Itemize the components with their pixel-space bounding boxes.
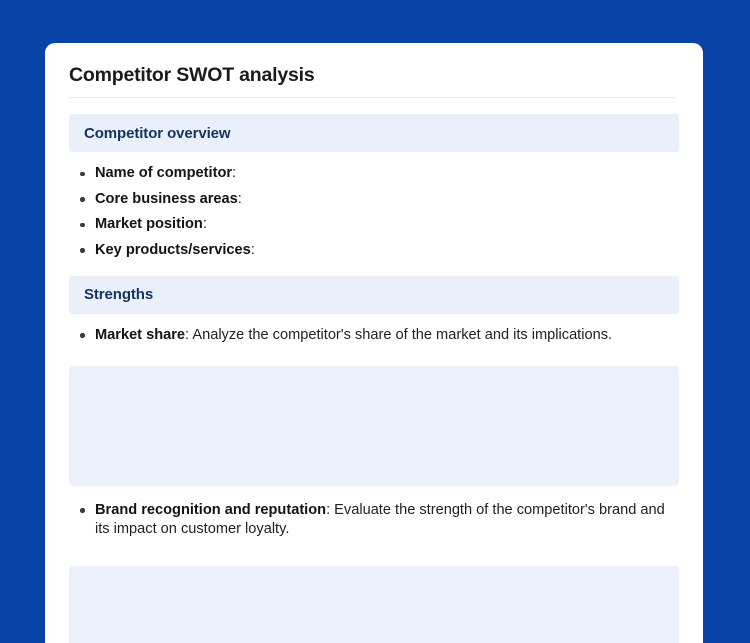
list-item[interactable]: Market position: bbox=[69, 215, 679, 234]
list-item-lead: Key products/services bbox=[95, 242, 251, 258]
document-content: Competitor SWOT analysis Competitor over… bbox=[45, 43, 703, 643]
list-item-lead: Brand recognition and reputation bbox=[95, 502, 326, 518]
list-item[interactable]: Market share: Analyze the competitor's s… bbox=[69, 326, 679, 345]
section-header-strengths[interactable]: Strengths bbox=[69, 276, 679, 314]
list-item[interactable]: Name of competitor: bbox=[69, 164, 679, 183]
list-item[interactable]: Brand recognition and reputation: Evalua… bbox=[69, 501, 679, 539]
bullet-list-strengths-first: Market share: Analyze the competitor's s… bbox=[69, 326, 679, 345]
document-card: Competitor SWOT analysis Competitor over… bbox=[45, 43, 703, 643]
title-divider bbox=[69, 97, 675, 98]
section-header-competitor-overview[interactable]: Competitor overview bbox=[69, 114, 679, 152]
bullet-list-competitor-overview: Name of competitor: Core business areas:… bbox=[69, 164, 679, 260]
list-item-lead: Name of competitor bbox=[95, 165, 232, 181]
list-item-body: : bbox=[251, 242, 255, 258]
list-item-lead: Market position bbox=[95, 216, 203, 232]
list-item-body: : bbox=[238, 191, 242, 207]
section-heading-label: Strengths bbox=[84, 286, 153, 303]
list-item-body: : bbox=[203, 216, 207, 232]
list-item-body: : bbox=[232, 165, 236, 181]
list-item-lead: Core business areas bbox=[95, 191, 238, 207]
page-title: Competitor SWOT analysis bbox=[69, 43, 679, 88]
content-placeholder-block[interactable] bbox=[69, 566, 679, 643]
content-placeholder-block[interactable] bbox=[69, 366, 679, 486]
bullet-list-strengths-second: Brand recognition and reputation: Evalua… bbox=[69, 501, 679, 539]
list-item-body: : Analyze the competitor's share of the … bbox=[185, 327, 612, 343]
list-item[interactable]: Core business areas: bbox=[69, 190, 679, 209]
section-heading-label: Competitor overview bbox=[84, 125, 230, 142]
list-item[interactable]: Key products/services: bbox=[69, 241, 679, 260]
list-item-lead: Market share bbox=[95, 327, 185, 343]
